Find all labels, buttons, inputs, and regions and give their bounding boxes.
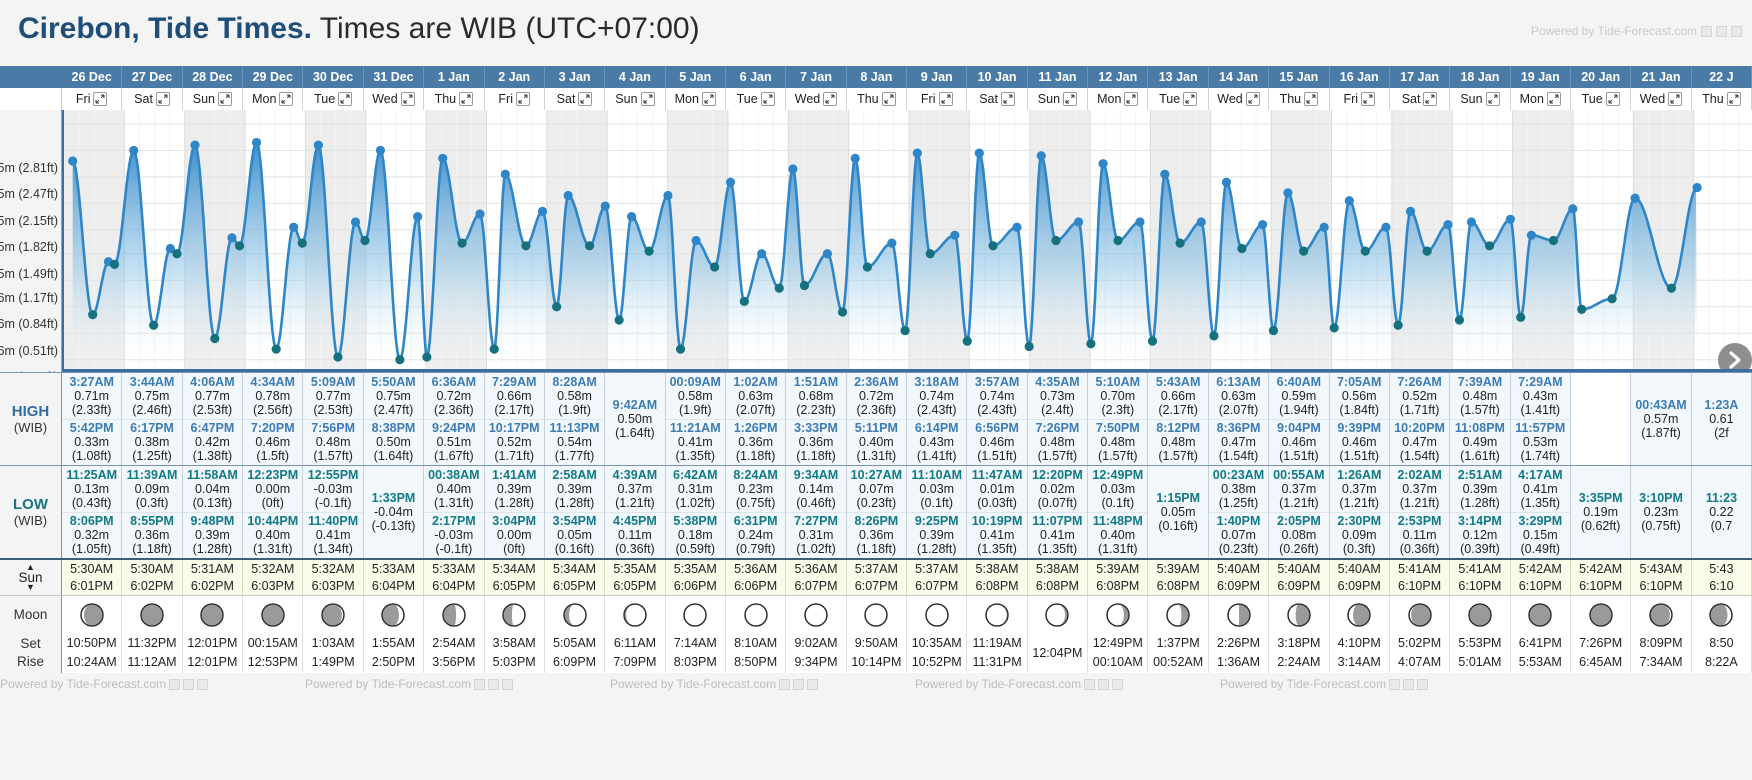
expand-icon[interactable]: [218, 92, 232, 106]
high-tide-cell: 7:29AM0.66m(2.17ft)10:17PM0.52m(1.71ft): [485, 373, 545, 465]
expand-icon[interactable]: [401, 92, 415, 106]
tide-time: 7:26AM: [1397, 375, 1441, 389]
low-tide-event: 2:02AM0.37m(1.21ft): [1390, 466, 1449, 512]
sunset-time: 6:03PM: [251, 578, 294, 595]
tide-height-m: 0.37m: [1402, 482, 1437, 496]
expand-icon[interactable]: [1727, 92, 1741, 106]
tide-time: 3:35PM: [1579, 491, 1623, 505]
high-tide-point: [1197, 217, 1206, 226]
tide-height-m: 0.46m: [1342, 435, 1377, 449]
high-tide-event: 7:56PM0.48m(1.57ft): [303, 419, 362, 466]
low-tide-point: [740, 297, 749, 306]
moonset-time: 1:37PM: [1157, 634, 1200, 653]
high-tide-point: [351, 217, 360, 226]
low-tide-point: [1209, 331, 1218, 340]
high-tide-point: [1467, 217, 1476, 226]
tide-height-ft: (0.3ft): [136, 496, 169, 510]
tide-height-m: 0.22: [1709, 505, 1733, 519]
sunset-time: 6:08PM: [976, 578, 1019, 595]
tide-height-ft: (1.21ft): [1400, 496, 1440, 510]
low-tide-event: 2:30PM0.09m(0.3ft): [1330, 512, 1389, 559]
sunrise-time: 5:37AM: [855, 561, 898, 578]
tide-height-m: 0.31m: [799, 528, 834, 542]
high-tide-point: [190, 141, 199, 150]
low-tide-point: [360, 236, 369, 245]
weekday-cell: Mon: [666, 88, 726, 110]
tide-time: 1:26AM: [1337, 468, 1381, 482]
moonset-time: 11:19AM: [973, 634, 1022, 653]
high-tide-event: 1:02AM0.63m(2.07ft): [726, 373, 785, 419]
moonrise-time: 12:53PM: [248, 653, 298, 672]
high-tide-event: 7:26PM0.48m(1.57ft): [1028, 419, 1087, 466]
sun-cell: 5:30AM6:01PM: [62, 560, 122, 595]
tide-height-ft: (1.41ft): [917, 449, 957, 463]
date-cell: 19 Jan: [1511, 66, 1571, 88]
date-cell: 13 Jan: [1148, 66, 1208, 88]
tide-height-m: 0.72m: [859, 389, 894, 403]
moon-phase-icon: [1347, 603, 1371, 627]
footer-flag-icon: [1403, 679, 1414, 690]
moon-phase-icon: [744, 603, 768, 627]
expand-icon[interactable]: [459, 92, 473, 106]
tide-height-ft: (1.21ft): [1339, 496, 1379, 510]
weekday-cell: Sun: [1450, 88, 1510, 110]
high-tide-point: [1568, 204, 1577, 213]
tide-height-m: 0.47m: [1221, 435, 1256, 449]
expand-icon[interactable]: [1183, 92, 1197, 106]
expand-icon[interactable]: [641, 92, 655, 106]
high-tide-point: [1222, 178, 1231, 187]
moon-set-rise-cell: 6:41PM5:53AM: [1511, 633, 1571, 673]
sunset-time: 6:09PM: [1338, 578, 1381, 595]
weekday-label: Sat: [979, 88, 998, 110]
high-tide-event: 10:20PM0.47m(1.54ft): [1390, 419, 1449, 466]
high-tide-cell: 5:10AM0.70m(2.3ft)7:50PM0.48m(1.57ft): [1088, 373, 1148, 465]
high-tide-event: 3:44AM0.75m(2.46ft): [122, 373, 181, 419]
powered-by-text: Powered by Tide-Forecast.com: [1531, 24, 1697, 38]
tide-time: 8:38PM: [372, 421, 416, 435]
expand-icon[interactable]: [939, 92, 953, 106]
date-cell: 27 Dec: [122, 66, 182, 88]
high-tide-event: 7:26AM0.52m(1.71ft): [1390, 373, 1449, 419]
high-tide-point: [692, 236, 701, 245]
moon-set-rise-cell: 2:54AM3:56PM: [424, 633, 484, 673]
moon-set-rise-cell: 12:49PM00:10AM: [1088, 633, 1148, 673]
high-tide-cell: 7:29AM0.43m(1.41ft)11:57PM0.53m(1.74ft): [1511, 373, 1571, 465]
low-tide-event: 1:40PM0.07m(0.23ft): [1209, 512, 1268, 559]
tide-time: 4:34AM: [251, 375, 295, 389]
tide-height-m: 0.40m: [255, 528, 290, 542]
tide-height-m: 0.46m: [1281, 435, 1316, 449]
tide-height-ft: (0.49ft): [1521, 542, 1561, 556]
tide-time: 2:36AM: [854, 375, 898, 389]
low-tide-cells: 11:25AM0.13m(0.43ft)8:06PM0.32m(1.05ft)1…: [62, 466, 1752, 558]
date-cell: 18 Jan: [1450, 66, 1510, 88]
weekday-label: Wed: [795, 88, 820, 110]
expand-icon[interactable]: [1606, 92, 1620, 106]
tide-time: 3:18AM: [914, 375, 958, 389]
tide-height-m: 0.36m: [738, 435, 773, 449]
high-tide-cells: 3:27AM0.71m(2.33ft)5:42PM0.33m(1.08ft)3:…: [62, 373, 1752, 465]
tide-height-m: 0.50m: [618, 412, 653, 426]
tide-time: 9:34AM: [794, 468, 838, 482]
next-page-arrow-button[interactable]: [1718, 343, 1752, 372]
sun-cells: 5:30AM6:01PM5:30AM6:02PM5:31AM6:02PM5:32…: [62, 560, 1752, 595]
expand-icon[interactable]: [1486, 92, 1500, 106]
powered-by-header: Powered by Tide-Forecast.com: [1531, 24, 1742, 38]
moonset-time: 5:53PM: [1458, 634, 1501, 653]
low-tide-event: 11:25AM0.13m(0.43ft): [62, 466, 121, 512]
moon-phase-cell: [1209, 596, 1269, 633]
moon-phase-cell: [1390, 596, 1450, 633]
low-tide-cell: 1:33PM-0.04m(-0.13ft): [364, 466, 424, 558]
high-tide-point: [68, 156, 77, 165]
sunrise-time: 5:42AM: [1579, 561, 1622, 578]
tide-height-m: 0.57m: [1644, 412, 1679, 426]
moon-set-rise-cell: 8:09PM7:34AM: [1631, 633, 1691, 673]
footer-powered-by-text: Powered by Tide-Forecast.com: [915, 677, 1081, 691]
high-tide-cell: 3:18AM0.74m(2.43ft)6:14PM0.43m(1.41ft): [907, 373, 967, 465]
expand-icon[interactable]: [761, 92, 775, 106]
moon-phase-cell: [786, 596, 846, 633]
expand-icon[interactable]: [578, 92, 592, 106]
expand-icon[interactable]: [702, 92, 716, 106]
date-row-label: [0, 66, 62, 88]
low-tide-point: [1176, 239, 1185, 248]
y-axis-tick: 0.75m (2.47ft): [0, 187, 58, 201]
tide-height-ft: (1.51ft): [977, 449, 1017, 463]
moon-phase-cell: [1511, 596, 1571, 633]
tide-time: 1:51AM: [794, 375, 838, 389]
tide-time: 11:47AM: [972, 468, 1023, 482]
tide-time: 9:25PM: [915, 514, 959, 528]
high-tide-point: [564, 191, 573, 200]
tide-height-m: 0.38m: [135, 435, 170, 449]
moonrise-time: 11:12AM: [127, 653, 176, 672]
tide-height-ft: (1.57ft): [1158, 449, 1198, 463]
moonset-time: 5:05AM: [553, 634, 596, 653]
high-tide-point: [227, 233, 236, 242]
tide-height-ft: (2.36ft): [857, 403, 897, 417]
high-tide-event: 4:35AM0.73m(2.4ft): [1028, 373, 1087, 419]
weekday-cell: Tue: [303, 88, 363, 110]
moonset-time: 10:50PM: [67, 634, 117, 653]
high-tide-event: 11:13PM0.54m(1.77ft): [545, 419, 604, 466]
expand-icon[interactable]: [1001, 92, 1015, 106]
weekday-label: Wed: [1217, 88, 1242, 110]
high-tide-event: 6:56PM0.46m(1.51ft): [967, 419, 1026, 466]
tide-height-m: 0.13m: [74, 482, 109, 496]
date-cell: 21 Jan: [1631, 66, 1691, 88]
tide-height-ft: (2.56ft): [253, 403, 293, 417]
high-tide-event: 4:34AM0.78m(2.56ft): [243, 373, 302, 419]
expand-icon[interactable]: [1063, 92, 1077, 106]
high-tide-cell: 5:43AM0.66m(2.17ft)8:12PM0.48m(1.57ft): [1148, 373, 1208, 465]
low-tide-event: 8:26PM0.36m(1.18ft): [847, 512, 906, 559]
sunset-time: 6:09PM: [1277, 578, 1320, 595]
moonrise-time: 7:09PM: [613, 653, 656, 672]
weekday-cell: Thu: [1692, 88, 1752, 110]
tide-height-m: 0.51m: [436, 435, 471, 449]
high-tide-point: [1345, 196, 1354, 205]
high-tide-cell: 1:51AM0.68m(2.23ft)3:33PM0.36m(1.18ft): [786, 373, 846, 465]
tide-height-ft: (0.7: [1711, 519, 1733, 533]
tide-time: 2:30PM: [1337, 514, 1381, 528]
tide-height-ft: (0.62ft): [1581, 519, 1621, 533]
tide-height-m: 0.39m: [557, 482, 592, 496]
tide-height-ft: (0.39ft): [1460, 542, 1500, 556]
weekday-label: Thu: [1280, 88, 1302, 110]
expand-icon[interactable]: [338, 92, 352, 106]
low-tide-point: [1237, 244, 1246, 253]
expand-icon[interactable]: [516, 92, 530, 106]
tide-time: 4:35AM: [1035, 375, 1079, 389]
moonset-time: 10:35AM: [912, 634, 962, 653]
low-tide-cell: 00:38AM0.40m(1.31ft)2:17PM-0.03m(-0.1ft): [424, 466, 484, 558]
low-tide-cell: 3:35PM0.19m(0.62ft): [1571, 466, 1631, 558]
weekday-label: Thu: [857, 88, 879, 110]
sun-cell: 5:41AM6:10PM: [1390, 560, 1450, 595]
high-tide-event: 7:29AM0.43m(1.41ft): [1511, 373, 1570, 419]
low-tide-cell: 1:15PM0.05m(0.16ft): [1148, 466, 1208, 558]
weekday-cell: Mon: [243, 88, 303, 110]
tide-height-m: 0.42m: [195, 435, 230, 449]
moon-phase-icon: [1106, 603, 1130, 627]
expand-icon[interactable]: [1246, 92, 1260, 106]
tide-height-m: 0.36m: [135, 528, 170, 542]
tide-height-ft: (2.46ft): [132, 403, 172, 417]
low-tide-cell: 11:10AM0.03m(0.1ft)9:25PM0.39m(1.28ft): [907, 466, 967, 558]
expand-icon[interactable]: [1361, 92, 1375, 106]
tide-height-m: 0.33m: [74, 435, 109, 449]
tide-height-ft: (1.57ft): [313, 449, 353, 463]
tide-height-m: 0.23m: [1644, 505, 1679, 519]
low-tide-cell: 11:47AM0.01m(0.03ft)10:19PM0.41m(1.35ft): [967, 466, 1027, 558]
low-tide-cell: 12:55PM-0.03m(-0.1ft)11:40PM0.41m(1.34ft…: [303, 466, 363, 558]
tide-height-ft: (0.59ft): [675, 542, 715, 556]
sunrise-time: 5:35AM: [613, 561, 656, 578]
sunset-time: 6:07PM: [855, 578, 898, 595]
tide-time: 12:23PM: [247, 468, 298, 482]
high-tide-event: 7:20PM0.46m(1.5ft): [243, 419, 302, 466]
tide-height-ft: (1.18ft): [736, 449, 776, 463]
expand-icon[interactable]: [1547, 92, 1561, 106]
tide-height-ft: (1.61ft): [1460, 449, 1500, 463]
sunrise-time: 5:41AM: [1458, 561, 1501, 578]
high-tide-point: [788, 164, 797, 173]
tide-height-m: 0.39m: [1463, 482, 1498, 496]
moon-set-rise-cell: 8:508:22A: [1692, 633, 1752, 673]
weekday-cell: Thu: [847, 88, 907, 110]
footer-flag-icon: [488, 679, 499, 690]
expand-icon[interactable]: [1304, 92, 1318, 106]
tide-height-ft: (2.43ft): [917, 403, 957, 417]
tide-height-m: 0.61: [1709, 412, 1733, 426]
tide-time: 11:25AM: [66, 468, 117, 482]
expand-icon[interactable]: [279, 92, 293, 106]
low-tide-event: 1:26AM0.37m(1.21ft): [1330, 466, 1389, 512]
tide-time: 9:48PM: [191, 514, 235, 528]
date-header-row: 26 Dec27 Dec28 Dec29 Dec30 Dec31 Dec1 Ja…: [0, 66, 1752, 88]
low-tide-event: 12:23PM0.00m(0ft): [243, 466, 302, 512]
low-tide-point: [272, 345, 281, 354]
tide-height-m: 0.12m: [1463, 528, 1498, 542]
tide-time: 12:55PM: [308, 468, 359, 482]
flag-icon-2: [1716, 26, 1727, 37]
moon-phase-cell: [122, 596, 182, 633]
expand-icon[interactable]: [1668, 92, 1682, 106]
low-tide-event: 11:40PM0.41m(1.34ft): [303, 512, 362, 559]
footer-powered-by-text: Powered by Tide-Forecast.com: [610, 677, 776, 691]
sunset-time: 6:06PM: [734, 578, 777, 595]
moon-phase-icon: [563, 603, 587, 627]
weekday-cell: Fri: [62, 88, 122, 110]
low-tide-event: 00:23AM0.38m(1.25ft): [1209, 466, 1268, 512]
weekday-label: Mon: [675, 88, 699, 110]
tide-time: 11:57PM: [1515, 421, 1565, 435]
tide-height-ft: (1.71ft): [494, 449, 534, 463]
sunset-time: 6:02PM: [191, 578, 234, 595]
moonset-time: 9:02AM: [794, 634, 837, 653]
footer-powered-by-text: Powered by Tide-Forecast.com: [0, 677, 166, 691]
low-tide-point: [1113, 236, 1122, 245]
tide-height-ft: (1.51ft): [1279, 449, 1319, 463]
tide-time: 2:05PM: [1277, 514, 1321, 528]
high-tide-point: [438, 154, 447, 163]
low-tide-point: [457, 239, 466, 248]
low-tide-point: [88, 310, 97, 319]
moonset-time: 8:50: [1709, 634, 1733, 653]
low-tide-point: [333, 352, 342, 361]
tide-height-ft: (2.36ft): [434, 403, 474, 417]
tide-height-ft: (1.54ft): [1219, 449, 1259, 463]
high-tide-point: [1693, 183, 1702, 192]
moon-phase-icon: [1528, 603, 1552, 627]
low-tide-point: [901, 326, 910, 335]
sun-cell: 5:32AM6:03PM: [303, 560, 363, 595]
high-tide-cell: 3:27AM0.71m(2.33ft)5:42PM0.33m(1.08ft): [62, 373, 122, 465]
high-tide-cell: 3:44AM0.75m(2.46ft)6:17PM0.38m(1.25ft): [122, 373, 182, 465]
tide-height-ft: (1.31ft): [434, 496, 474, 510]
low-tide-event: 6:31PM0.24m(0.79ft): [726, 512, 785, 559]
moon-set-rise-cell: 1:37PM00:52AM: [1148, 633, 1208, 673]
high-tide-event: 7:39AM0.48m(1.57ft): [1450, 373, 1509, 419]
tide-height-ft: (2.3ft): [1101, 403, 1134, 417]
sunset-time: 6:08PM: [1036, 578, 1079, 595]
tide-height-m: -0.04m: [374, 505, 413, 519]
tide-time: 11:21AM: [670, 421, 721, 435]
tide-time: 6:56PM: [975, 421, 1019, 435]
low-tide-cell: 12:23PM0.00m(0ft)10:44PM0.40m(1.31ft): [243, 466, 303, 558]
tide-time: 9:24PM: [432, 421, 476, 435]
expand-icon[interactable]: [1124, 92, 1138, 106]
weekday-label: Tue: [1582, 88, 1603, 110]
low-tide-point: [710, 262, 719, 271]
tide-height-m: 0.08m: [1281, 528, 1316, 542]
tide-height-m: 0.38m: [1221, 482, 1256, 496]
moonrise-time: 8:03PM: [674, 653, 717, 672]
low-tide-cell: 9:34AM0.14m(0.46ft)7:27PM0.31m(1.02ft): [786, 466, 846, 558]
low-tide-cell: 3:10PM0.23m(0.75ft): [1631, 466, 1691, 558]
tide-height-m: 0.41m: [1523, 482, 1558, 496]
moonrise-time: 1:36AM: [1217, 653, 1260, 672]
tide-height-m: 0.54m: [557, 435, 592, 449]
weekday-label: Thu: [435, 88, 457, 110]
weekday-label: Sat: [134, 88, 153, 110]
moon-phase-icon: [864, 603, 888, 627]
tide-height-m: 0.48m: [1463, 389, 1498, 403]
sunrise-time: 5:40AM: [1217, 561, 1260, 578]
tide-time: 3:57AM: [975, 375, 1019, 389]
expand-icon[interactable]: [823, 92, 837, 106]
low-tide-cell: 6:42AM0.31m(1.02ft)5:38PM0.18m(0.59ft): [666, 466, 726, 558]
low-tide-event: 3:35PM0.19m(0.62ft): [1571, 490, 1630, 534]
tide-time: 7:26PM: [1036, 421, 1080, 435]
high-tide-point: [1258, 220, 1267, 229]
moonrise-time: 12:01PM: [187, 653, 237, 672]
tide-height-ft: (2.07ft): [736, 403, 776, 417]
weekday-label: Sun: [1038, 88, 1060, 110]
low-tide-point: [1051, 236, 1060, 245]
expand-icon[interactable]: [882, 92, 896, 106]
moonset-time: 5:02PM: [1398, 634, 1441, 653]
footer-powered-by: Powered by Tide-Forecast.com: [915, 677, 1123, 691]
tide-height-m: 0.63m: [738, 389, 773, 403]
moonrise-time: 3:56PM: [432, 653, 475, 672]
date-cell: 12 Jan: [1088, 66, 1148, 88]
tide-height-ft: (-0.1ft): [315, 496, 352, 510]
date-cell: 20 Jan: [1571, 66, 1631, 88]
high-tide-cell: 6:40AM0.59m(1.94ft)9:04PM0.46m(1.51ft): [1269, 373, 1329, 465]
tide-height-ft: (1.21ft): [1279, 496, 1319, 510]
moon-phase-icon: [1045, 603, 1069, 627]
low-tide-point: [988, 241, 997, 250]
tide-height-m: 0.04m: [195, 482, 230, 496]
high-tide-event: 11:08PM0.49m(1.61ft): [1450, 419, 1509, 466]
low-tide-point: [235, 241, 244, 250]
high-tide-point: [1135, 217, 1144, 226]
low-tide-cell: 10:27AM0.07m(0.23ft)8:26PM0.36m(1.18ft): [847, 466, 907, 558]
high-tide-point: [289, 223, 298, 232]
sun-cell: 5:42AM6:10PM: [1511, 560, 1571, 595]
low-tide-event: 4:39AM0.37m(1.21ft): [605, 466, 664, 512]
sunrise-time: 5:36AM: [794, 561, 837, 578]
tide-time: 5:42PM: [70, 421, 114, 435]
high-tide-point: [1381, 223, 1390, 232]
high-tide-point: [413, 212, 422, 221]
weekday-cell: Sat: [1390, 88, 1450, 110]
tide-time: 4:45PM: [613, 514, 657, 528]
high-tide-cell: 3:57AM0.74m(2.43ft)6:56PM0.46m(1.51ft): [967, 373, 1027, 465]
tide-height-ft: (0.79ft): [736, 542, 776, 556]
tide-height-m: 0.48m: [1161, 435, 1196, 449]
tide-height-m: 0.78m: [255, 389, 290, 403]
moonrise-time: 00:52AM: [1153, 653, 1203, 672]
moon-phase-icon: [683, 603, 707, 627]
moon-phase-cell: [967, 596, 1027, 633]
expand-icon[interactable]: [1423, 92, 1437, 106]
high-tide-cell: 6:36AM0.72m(2.36ft)9:24PM0.51m(1.67ft): [424, 373, 484, 465]
tide-height-m: 0.36m: [859, 528, 894, 542]
expand-icon[interactable]: [156, 92, 170, 106]
sunset-time: 6:02PM: [130, 578, 173, 595]
sunrise-time: 5:41AM: [1398, 561, 1441, 578]
low-tide-event: 3:54PM0.05m(0.16ft): [545, 512, 604, 559]
expand-icon[interactable]: [93, 92, 107, 106]
page-title: Cirebon, Tide Times. Times are WIB (UTC+…: [18, 12, 700, 46]
tide-height-m: 0.63m: [1221, 389, 1256, 403]
low-tide-point: [1330, 323, 1339, 332]
